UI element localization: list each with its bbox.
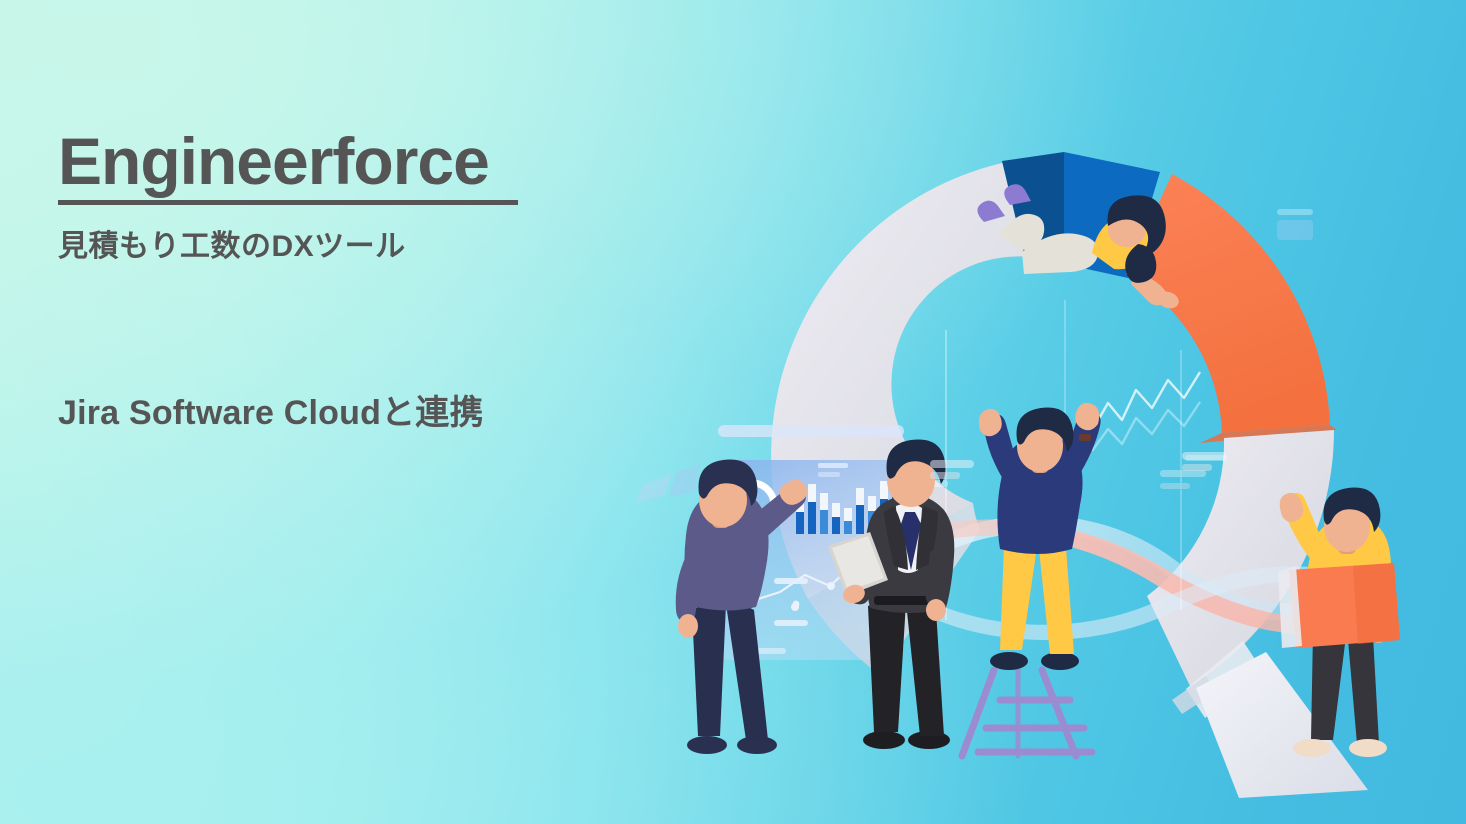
page-title: Engineerforce <box>58 128 698 194</box>
headline-block: Engineerforce 見積もり工数のDXツール <box>58 128 698 265</box>
floating-parallelogram-left <box>636 464 700 503</box>
step-ladder <box>962 670 1092 756</box>
integration-tagline: Jira Software Cloudと連携 <box>58 385 484 434</box>
page-subtitle: 見積もり工数のDXツール <box>58 221 698 265</box>
person-on-ladder-arms-raised <box>962 403 1101 756</box>
inner-line-chart <box>1092 372 1200 451</box>
floating-card-top-right <box>1277 209 1313 240</box>
title-underline <box>58 200 518 205</box>
slide-canvas: Engineerforce 見積もり工数のDXツール Jira Software… <box>0 0 1466 824</box>
